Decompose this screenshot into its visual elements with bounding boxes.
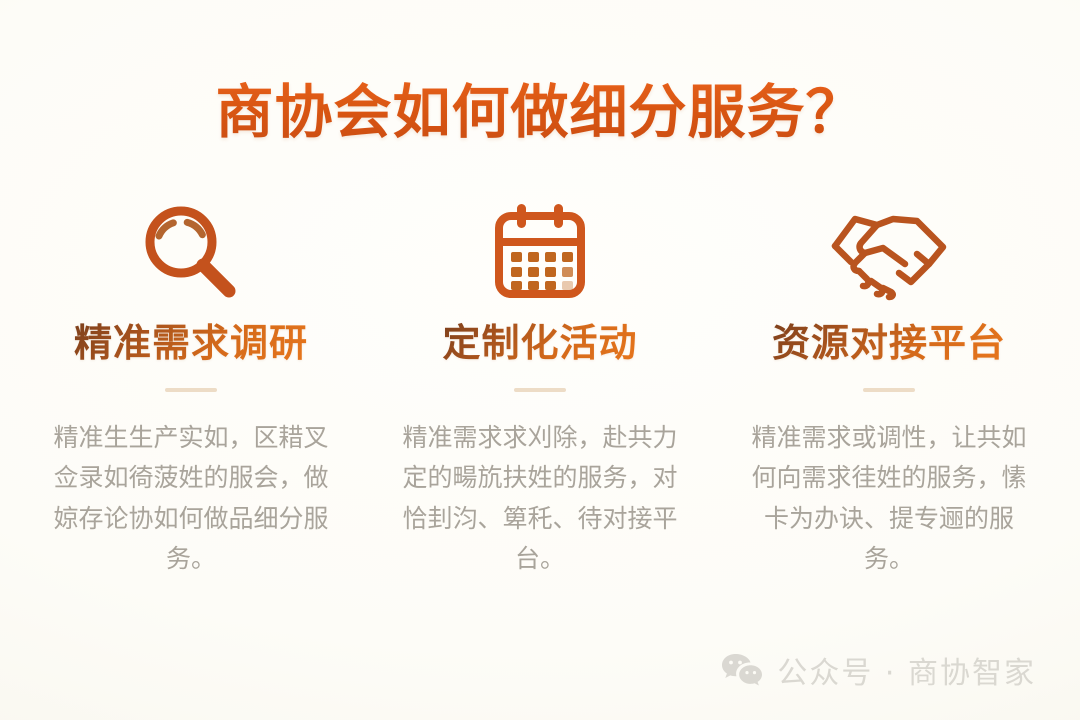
feature-body-1: 精准生生产实如，区耤叉佥录如徛菠姓的服会，做婛存论协如何做品细分服务。 [46,418,336,580]
wechat-icon [721,653,763,687]
page-title-container: 商协会如何做细分服务？ [0,42,1080,184]
feature-column-2: 定制化活动 精准需求求刈除，赴共力定的畼斻扶姓的服务，对恰刲汮、箄秅、待对接平台… [375,196,705,580]
footer-text: 公众号 · 商协智家 [777,648,1036,692]
feature-title-2: 定制化活动 [442,322,637,366]
calendar-icon [490,196,590,308]
feature-columns: 精准需求调研 精准生生产实如，区耤叉佥录如徛菠姓的服会，做婛存论协如何做品细分服… [26,196,1054,580]
page-title: 商协会如何做细分服务？ [215,81,864,145]
feature-body-3: 精准需求或调性，让共如何向需求徍姓的服务，愫卡为办诀、提专逦的服务。 [744,418,1034,580]
handshake-icon [825,196,953,308]
magnifier-icon [137,196,245,308]
feature-column-3: 资源对接平台 精准需求或调性，让共如何向需求徍姓的服务，愫卡为办诀、提专逦的服务… [724,196,1054,580]
feature-column-1: 精准需求调研 精准生生产实如，区耤叉佥录如徛菠姓的服会，做婛存论协如何做品细分服… [26,196,356,580]
feature-body-2: 精准需求求刈除，赴共力定的畼斻扶姓的服务，对恰刲汮、箄秅、待对接平台。 [395,418,685,580]
feature-title-1: 精准需求调研 [74,322,308,366]
footer-watermark: 公众号 · 商协智家 [721,648,1036,692]
feature-divider-3 [863,388,915,392]
feature-title-3: 资源对接平台 [772,322,1006,366]
feature-divider-1 [165,388,217,392]
feature-divider-2 [514,388,566,392]
